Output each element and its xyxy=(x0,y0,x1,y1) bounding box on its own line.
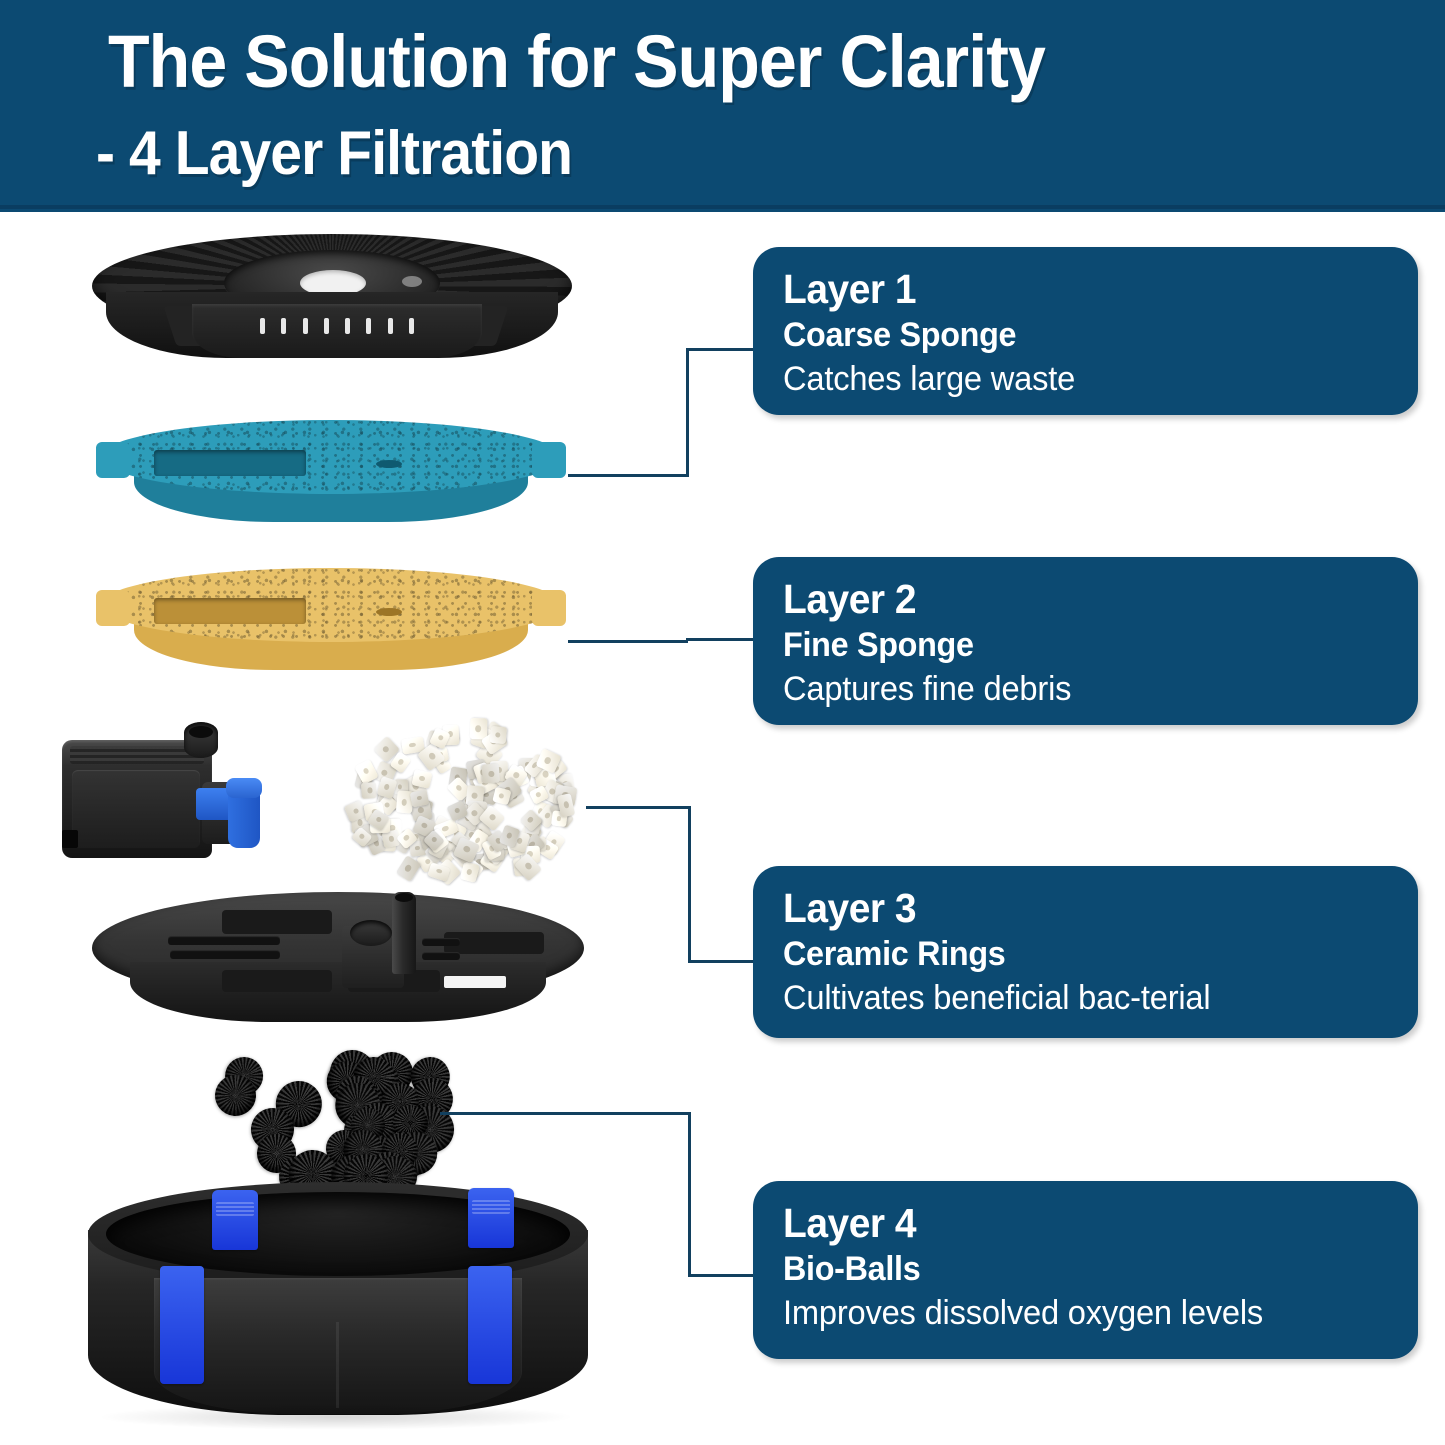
page-title-line2: - 4 Layer Filtration xyxy=(96,118,572,190)
tray-rib-3 xyxy=(422,938,460,946)
layer-1-description: Catches large waste xyxy=(783,357,1368,401)
tray-rib-1 xyxy=(168,936,280,945)
connector-3-vertical xyxy=(688,806,691,962)
layer-3-description: Cultivates beneficial bac-terial xyxy=(783,976,1368,1020)
lid-vent-slots xyxy=(260,318,414,334)
connector-4-horizontal-upper xyxy=(440,1112,690,1115)
fine-sponge-notch-right xyxy=(532,590,566,626)
media-tray-icon xyxy=(92,892,584,1042)
page-title-line1: The Solution for Super Clarity xyxy=(108,20,1045,104)
water-pump-icon xyxy=(62,722,262,862)
layer-2-description: Captures fine debris xyxy=(783,667,1368,711)
layer-2-name: Fine Sponge xyxy=(783,624,1362,667)
connector-2-horizontal-lower xyxy=(568,640,688,643)
ceramic-ring xyxy=(361,782,377,799)
basket-ground-shadow xyxy=(96,1404,576,1430)
connector-2-horizontal-upper xyxy=(686,638,758,641)
bio-balls-icon xyxy=(214,1036,464,1192)
filter-basket-icon xyxy=(88,1182,588,1437)
layer-4-name: Bio-Balls xyxy=(783,1248,1362,1291)
tray-riser-tube xyxy=(392,892,416,974)
layer-2-title: Layer 2 xyxy=(783,575,1362,624)
connector-1-horizontal-lower xyxy=(568,474,688,477)
tray-pad-2 xyxy=(222,970,332,992)
pump-elbow-cap xyxy=(226,778,262,798)
layer-1-name: Coarse Sponge xyxy=(783,314,1362,357)
basket-clip-front-right xyxy=(468,1266,512,1384)
layer-4-description: Improves dissolved oxygen levels xyxy=(783,1291,1368,1335)
ceramic-ring xyxy=(481,763,500,784)
connector-3-horizontal-lower xyxy=(688,960,758,963)
tray-pad-1 xyxy=(222,910,332,934)
fine-sponge-slot xyxy=(154,598,306,624)
tray-slot-opening xyxy=(444,976,506,988)
connector-1-horizontal-upper xyxy=(686,348,758,351)
connector-4-horizontal-lower xyxy=(688,1274,758,1277)
basket-clip-rear-left xyxy=(212,1190,258,1250)
coarse-sponge-pin-hole xyxy=(376,460,402,468)
header-divider xyxy=(0,205,1445,209)
coarse-sponge-notch-right xyxy=(532,442,566,478)
layer-3-name: Ceramic Rings xyxy=(783,933,1362,976)
pump-front-panel xyxy=(72,770,200,848)
coarse-sponge-notch-left xyxy=(96,442,130,478)
lid-indicator-dot xyxy=(402,276,422,287)
coarse-sponge-icon xyxy=(100,420,562,538)
layer-card-3[interactable]: Layer 3 Ceramic Rings Cultivates benefic… xyxy=(753,866,1418,1038)
layer-card-2[interactable]: Layer 2 Fine Sponge Captures fine debris xyxy=(753,557,1418,725)
basket-seam xyxy=(336,1322,339,1408)
filter-lid-icon xyxy=(92,234,572,374)
tray-rib-4 xyxy=(422,952,460,960)
layer-3-title: Layer 3 xyxy=(783,884,1362,933)
basket-clip-front-left xyxy=(160,1266,204,1384)
ceramic-ring xyxy=(490,726,508,744)
layer-card-4[interactable]: Layer 4 Bio-Balls Improves dissolved oxy… xyxy=(753,1181,1418,1359)
pump-side-notch xyxy=(62,830,78,848)
fine-sponge-notch-left xyxy=(96,590,130,626)
connector-3-horizontal-upper xyxy=(586,806,690,809)
connector-4-vertical xyxy=(688,1112,691,1276)
connector-1-vertical xyxy=(686,348,689,477)
header-banner: The Solution for Super Clarity - 4 Layer… xyxy=(0,0,1445,212)
coarse-sponge-slot xyxy=(154,450,306,476)
fine-sponge-pin-hole xyxy=(376,608,402,616)
basket-clip-rear-right xyxy=(468,1188,514,1248)
ceramic-rings-icon xyxy=(336,716,586,892)
fine-sponge-icon xyxy=(100,568,562,690)
layer-1-title: Layer 1 xyxy=(783,265,1362,314)
pump-inlet-port xyxy=(184,722,218,758)
infographic-canvas: The Solution for Super Clarity - 4 Layer… xyxy=(0,0,1445,1445)
ceramic-ring xyxy=(411,769,432,788)
tray-rib-2 xyxy=(170,950,280,959)
tray-side-wall xyxy=(130,962,546,1022)
ceramic-ring xyxy=(409,789,428,807)
ceramic-ring xyxy=(460,861,480,882)
layer-card-1[interactable]: Layer 1 Coarse Sponge Catches large wast… xyxy=(753,247,1418,415)
layer-4-title: Layer 4 xyxy=(783,1199,1362,1248)
tray-socket xyxy=(350,920,392,946)
